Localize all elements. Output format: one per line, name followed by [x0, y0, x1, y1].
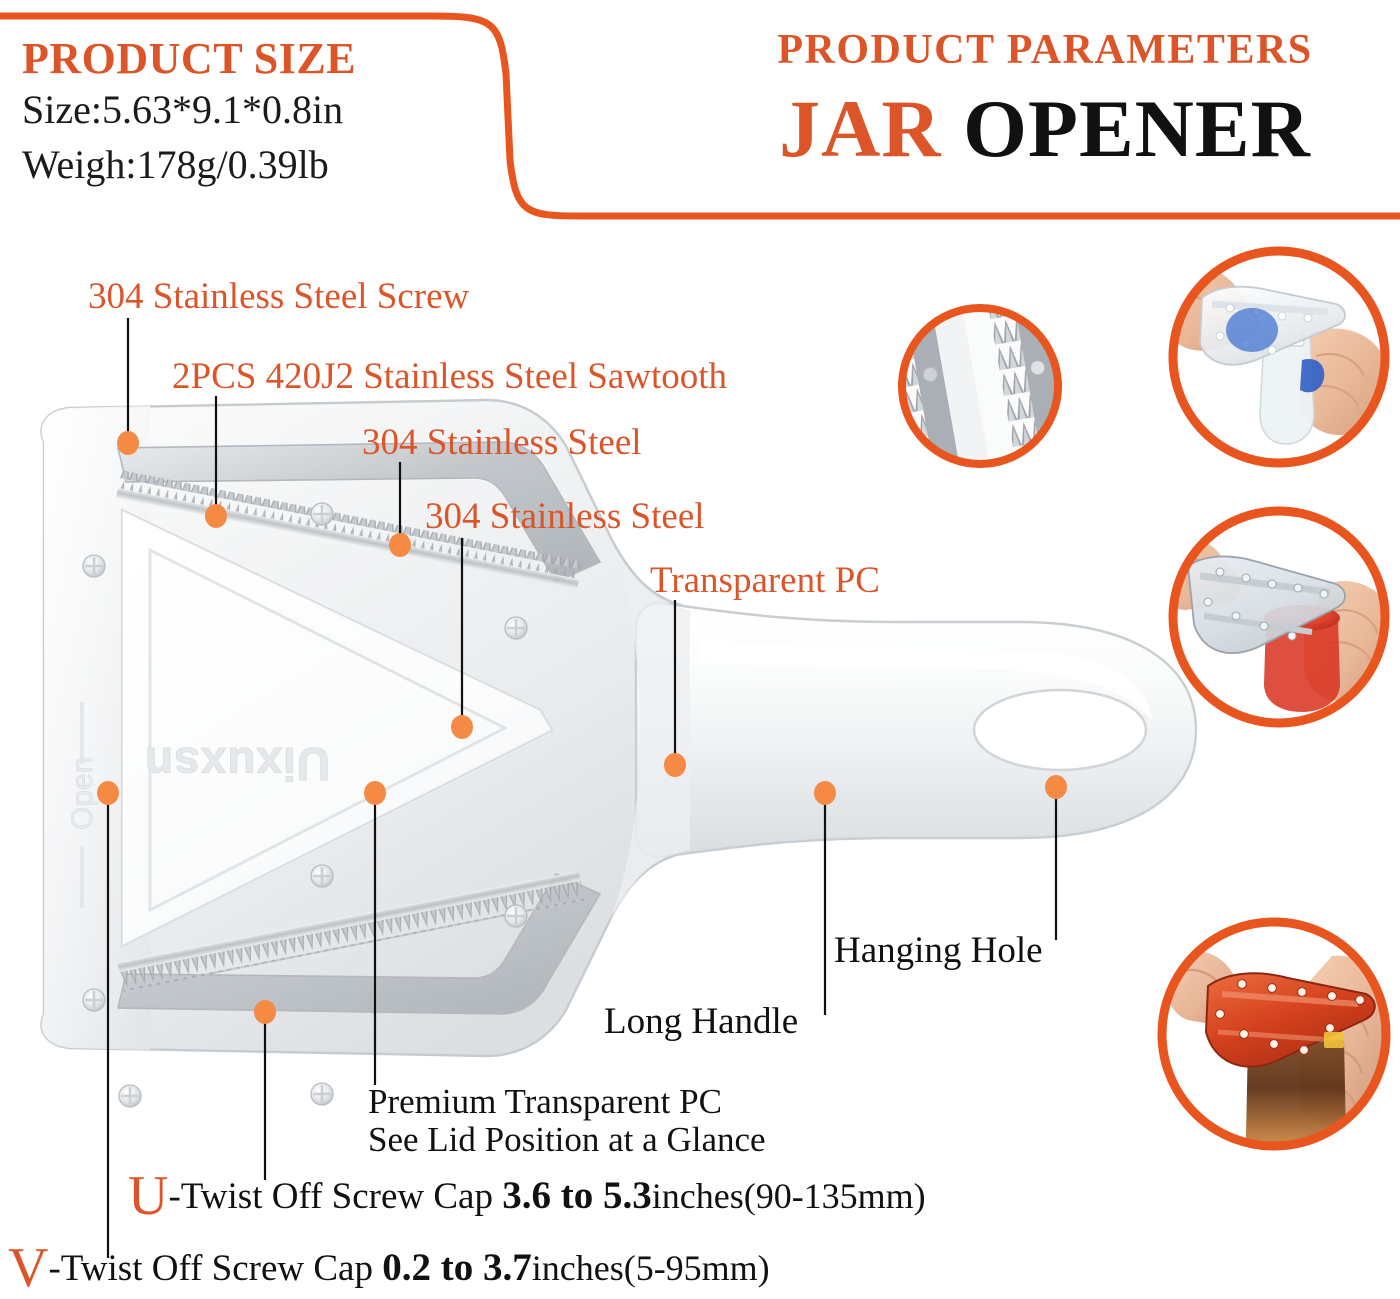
- v-cap-range-row: V-Twist Off Screw Cap 0.2 to 3.7inches(5…: [8, 1240, 770, 1296]
- callout-label-hanging-hole: Hanging Hole: [834, 932, 1043, 969]
- callout-label-stainless-1: 304 Stainless Steel: [362, 424, 642, 461]
- u-cap-range-row: U-Twist Off Screw Cap 3.6 to 5.3inches(9…: [128, 1168, 926, 1224]
- v-letter: V: [8, 1237, 48, 1299]
- callout-label-long-handle: Long Handle: [604, 1003, 798, 1040]
- v-row-tail: inches(5-95mm): [532, 1248, 770, 1288]
- u-row-text: -Twist Off Screw Cap: [168, 1176, 502, 1217]
- u-letter: U: [128, 1165, 168, 1227]
- u-row-tail: inches(90-135mm): [652, 1176, 926, 1216]
- callout-label-transparent-pc: Transparent PC: [650, 562, 880, 599]
- premium-pc-line-1: Premium Transparent PC: [368, 1082, 722, 1121]
- u-row-range: 3.6 to 5.3: [502, 1174, 652, 1217]
- callout-label-screw: 304 Stainless Steel Screw: [88, 278, 469, 315]
- callout-label-stainless-2: 304 Stainless Steel: [425, 498, 705, 535]
- callout-label-sawtooth: 2PCS 420J2 Stainless Steel Sawtooth: [172, 358, 727, 395]
- v-row-range: 0.2 to 3.7: [382, 1246, 532, 1289]
- infographic-canvas: PRODUCT SIZE Size:5.63*9.1*0.8in Weigh:1…: [0, 0, 1400, 1296]
- premium-pc-line-2: See Lid Position at a Glance: [368, 1120, 766, 1159]
- v-row-text: -Twist Off Screw Cap: [48, 1248, 382, 1289]
